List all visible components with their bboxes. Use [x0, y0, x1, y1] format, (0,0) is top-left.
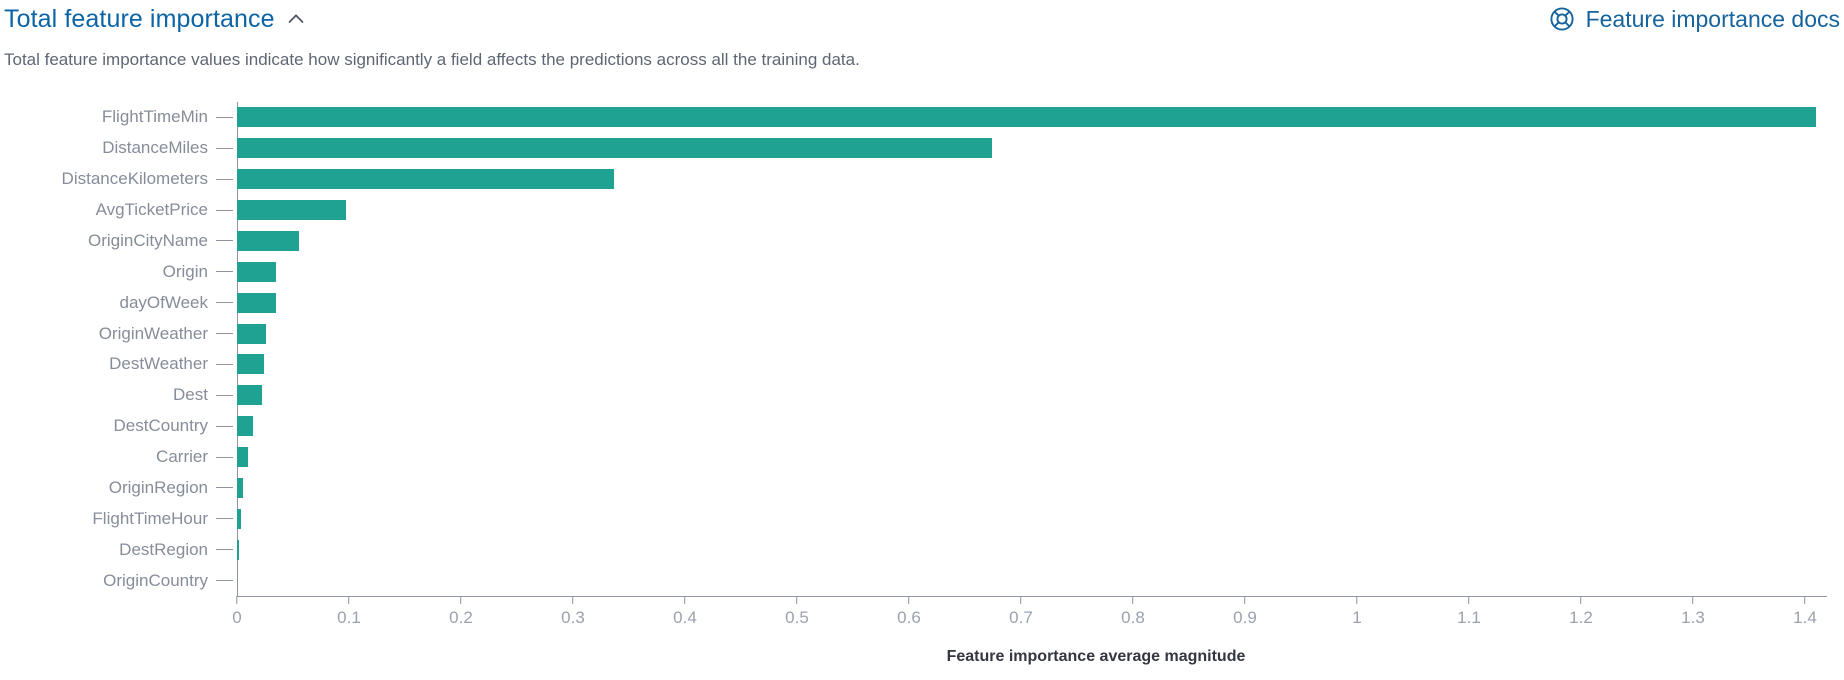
y-axis-label: FlightTimeMin	[102, 107, 208, 127]
x-axis-tick: 0.6	[897, 596, 921, 628]
x-axis-tick-mark	[1692, 596, 1693, 604]
y-axis-tick-mark	[216, 580, 233, 581]
x-axis-tick: 0.2	[449, 596, 473, 628]
x-axis-tick: 0.7	[1009, 596, 1033, 628]
x-axis-tick: 1.3	[1681, 596, 1705, 628]
y-axis-label-row: OriginRegion	[0, 473, 237, 504]
x-axis-tick-mark	[1244, 596, 1245, 604]
x-axis-tick: 0.9	[1233, 596, 1257, 628]
y-axis-label-row: Origin	[0, 256, 237, 287]
x-axis-tick: 1.1	[1457, 596, 1481, 628]
x-axis-ticks: 00.10.20.30.40.50.60.70.80.911.11.21.31.…	[0, 596, 1844, 636]
y-axis-label: Carrier	[156, 447, 208, 467]
bar[interactable]	[237, 385, 262, 405]
bar[interactable]	[237, 231, 299, 251]
y-axis-tick-mark	[216, 240, 233, 241]
y-axis-label: AvgTicketPrice	[96, 200, 208, 220]
bar-row[interactable]	[237, 102, 1827, 133]
y-axis-tick-mark	[216, 395, 233, 396]
y-axis-tick-mark	[216, 518, 233, 519]
y-axis-label-row: OriginCountry	[0, 565, 237, 596]
x-axis-tick-label: 0.5	[785, 608, 809, 628]
y-axis-tick-mark	[216, 302, 233, 303]
x-axis-tick-mark	[1357, 596, 1358, 604]
x-axis-tick-label: 1	[1352, 608, 1361, 628]
y-axis-label: OriginWeather	[99, 324, 208, 344]
bar[interactable]	[237, 138, 992, 158]
help-lifering-icon	[1549, 6, 1575, 32]
bar[interactable]	[237, 262, 276, 282]
y-axis-label: DestWeather	[109, 354, 208, 374]
bar-row[interactable]	[237, 164, 1827, 195]
feature-importance-docs-link[interactable]: Feature importance docs	[1549, 4, 1840, 34]
x-axis-tick-label: 0.2	[449, 608, 473, 628]
x-axis-tick-mark	[348, 596, 349, 604]
y-axis-label-row: AvgTicketPrice	[0, 195, 237, 226]
x-axis-tick: 0.5	[785, 596, 809, 628]
bar[interactable]	[237, 540, 239, 560]
x-axis-tick: 1.4	[1793, 596, 1817, 628]
y-axis-label-row: OriginWeather	[0, 318, 237, 349]
x-axis-tick-label: 0	[232, 608, 241, 628]
y-axis-tick-mark	[216, 179, 233, 180]
x-axis-tick-label: 0.9	[1233, 608, 1257, 628]
x-axis-tick-label: 0.6	[897, 608, 921, 628]
y-axis-label: OriginRegion	[109, 478, 208, 498]
plot-area	[237, 102, 1827, 596]
x-axis-tick-mark	[572, 596, 573, 604]
y-axis-label: FlightTimeHour	[92, 509, 208, 529]
x-axis-tick: 1	[1352, 596, 1361, 628]
bar-row[interactable]	[237, 534, 1827, 565]
bar-row[interactable]	[237, 442, 1827, 473]
y-axis-tick-mark	[216, 487, 233, 488]
x-axis-tick-label: 0.8	[1121, 608, 1145, 628]
x-axis-tick-label: 1.4	[1793, 608, 1817, 628]
x-axis-tick-mark	[908, 596, 909, 604]
bar-row[interactable]	[237, 287, 1827, 318]
panel-title-toggle[interactable]: Total feature importance	[4, 3, 307, 35]
y-axis-tick-mark	[216, 549, 233, 550]
y-axis-label: DistanceKilometers	[62, 169, 208, 189]
page-title: Total feature importance	[4, 3, 275, 35]
x-axis-tick: 0.1	[337, 596, 361, 628]
bar[interactable]	[237, 293, 276, 313]
x-axis-tick: 1.2	[1569, 596, 1593, 628]
y-axis-label-row: Dest	[0, 380, 237, 411]
y-axis-tick-mark	[216, 148, 233, 149]
bar[interactable]	[237, 478, 243, 498]
y-axis-label: DestCountry	[114, 416, 208, 436]
y-axis-label-row: DistanceKilometers	[0, 164, 237, 195]
y-axis-label-row: OriginCityName	[0, 226, 237, 257]
bar-row[interactable]	[237, 565, 1827, 596]
y-axis-label-row: Carrier	[0, 442, 237, 473]
bar-row[interactable]	[237, 411, 1827, 442]
x-axis-tick-mark	[1468, 596, 1469, 604]
y-axis-label-row: DestRegion	[0, 534, 237, 565]
x-axis-tick-mark	[460, 596, 461, 604]
y-axis-label-row: FlightTimeMin	[0, 102, 237, 133]
bar-row[interactable]	[237, 195, 1827, 226]
bar[interactable]	[237, 107, 1816, 127]
y-axis-label: Origin	[163, 262, 208, 282]
bar[interactable]	[237, 169, 614, 189]
y-axis-label-row: DistanceMiles	[0, 133, 237, 164]
bar[interactable]	[237, 200, 346, 220]
y-axis-label-row: FlightTimeHour	[0, 503, 237, 534]
x-axis-tick-mark	[1132, 596, 1133, 604]
bar[interactable]	[237, 354, 264, 374]
x-axis-tick-mark	[1020, 596, 1021, 604]
x-axis-title-text: Feature importance average magnitude	[947, 648, 1246, 666]
y-axis-tick-mark	[216, 333, 233, 334]
y-axis-label: DistanceMiles	[102, 138, 208, 158]
bar-row[interactable]	[237, 318, 1827, 349]
x-axis-tick: 0.4	[673, 596, 697, 628]
panel-header: Total feature importance Feature importa…	[0, 0, 1844, 46]
y-axis-label-row: dayOfWeek	[0, 287, 237, 318]
x-axis-tick-mark	[1804, 596, 1805, 604]
x-axis-tick: 0	[232, 596, 241, 628]
x-axis-tick-label: 1.1	[1457, 608, 1481, 628]
y-axis-category-labels: FlightTimeMinDistanceMilesDistanceKilome…	[0, 102, 237, 596]
bar-row[interactable]	[237, 380, 1827, 411]
x-axis-tick-label: 0.1	[337, 608, 361, 628]
y-axis-tick-mark	[216, 364, 233, 365]
y-axis-tick-mark	[216, 426, 233, 427]
x-axis-tick-mark	[1580, 596, 1581, 604]
y-axis-label: dayOfWeek	[119, 293, 208, 313]
bar-row[interactable]	[237, 133, 1827, 164]
y-axis-tick-mark	[216, 210, 233, 211]
feature-importance-bar-chart	[0, 92, 1844, 680]
y-axis-label: DestRegion	[119, 540, 208, 560]
y-axis-tick-mark	[216, 457, 233, 458]
y-axis-label: OriginCountry	[103, 571, 208, 591]
x-axis-tick-label: 0.3	[561, 608, 585, 628]
bar-series	[237, 102, 1827, 596]
x-axis-tick-label: 1.2	[1569, 608, 1593, 628]
bar-row[interactable]	[237, 473, 1827, 504]
x-axis-tick-label: 0.4	[673, 608, 697, 628]
bar[interactable]	[237, 416, 253, 436]
y-axis-label: Dest	[173, 385, 208, 405]
chevron-up-icon[interactable]	[285, 8, 307, 30]
y-axis-label: OriginCityName	[88, 231, 208, 251]
y-axis-tick-mark	[216, 271, 233, 272]
y-axis-label-row: DestWeather	[0, 349, 237, 380]
bar[interactable]	[237, 509, 241, 529]
y-axis-label-row: DestCountry	[0, 411, 237, 442]
x-axis-tick-mark	[796, 596, 797, 604]
bar-row[interactable]	[237, 349, 1827, 380]
x-axis-title: Feature importance average magnitude	[0, 648, 1844, 666]
bar[interactable]	[237, 447, 248, 467]
x-axis-tick-mark	[237, 596, 238, 604]
docs-link-label: Feature importance docs	[1586, 4, 1840, 34]
x-axis-tick: 0.3	[561, 596, 585, 628]
bar-row[interactable]	[237, 503, 1827, 534]
total-feature-importance-panel: Total feature importance Feature importa…	[0, 0, 1844, 680]
y-axis-tick-mark	[216, 117, 233, 118]
panel-description: Total feature importance values indicate…	[4, 48, 860, 72]
x-axis-tick-label: 1.3	[1681, 608, 1705, 628]
bar[interactable]	[237, 324, 266, 344]
x-axis-tick: 0.8	[1121, 596, 1145, 628]
x-axis-tick-label: 0.7	[1009, 608, 1033, 628]
bar-row[interactable]	[237, 256, 1827, 287]
x-axis-tick-mark	[684, 596, 685, 604]
bar-row[interactable]	[237, 226, 1827, 257]
